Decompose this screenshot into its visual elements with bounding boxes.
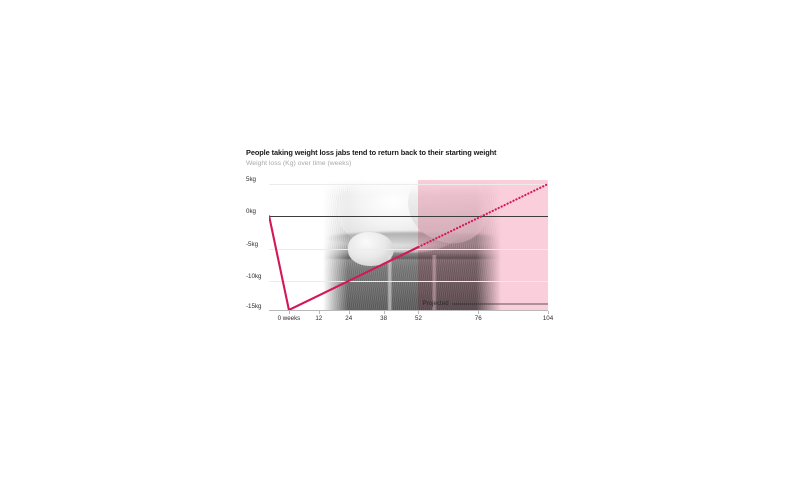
y-tick-label-0: 0kg — [246, 209, 256, 215]
x-tick-label-12: 12 — [315, 315, 322, 322]
projected-annotation-label: Projected — [422, 300, 448, 307]
series-lines — [269, 180, 548, 310]
x-axis-line — [269, 310, 548, 311]
y-tick-label--10: -10kg — [246, 274, 261, 280]
chart-figure: People taking weight loss jabs tend to r… — [246, 148, 548, 330]
chart-subtitle: Weight loss (Kg) over time (weeks) — [246, 159, 548, 169]
x-tick-label-76: 76 — [475, 315, 482, 322]
x-tick-mark — [319, 311, 320, 314]
projected-arrow-icon — [452, 301, 548, 307]
x-tick-label-38: 38 — [380, 315, 387, 322]
x-tick-mark — [289, 311, 290, 314]
x-tick-label-24: 24 — [345, 315, 352, 322]
x-tick-mark — [478, 311, 479, 314]
x-tick-label-52: 52 — [415, 315, 422, 322]
series-projected-line — [418, 184, 548, 247]
chart-title: People taking weight loss jabs tend to r… — [246, 148, 548, 158]
x-tick-mark — [384, 311, 385, 314]
y-tick-label-5: 5kg — [246, 177, 256, 183]
x-tick-mark — [548, 311, 549, 314]
x-tick-label-104: 104 — [543, 315, 553, 322]
series-observed-line — [269, 216, 418, 311]
projected-annotation: Projected — [422, 300, 548, 308]
plot-area: 5kg 0kg -5kg -10kg -15kg — [246, 176, 548, 314]
x-tick-label-0-weeks: 0 weeks — [278, 315, 301, 322]
x-tick-mark — [349, 311, 350, 314]
y-tick-label--15: -15kg — [246, 304, 261, 310]
x-tick-mark — [418, 311, 419, 314]
plot-inner-region: Projected — [269, 180, 548, 310]
y-tick-label--5: -5kg — [246, 242, 258, 248]
